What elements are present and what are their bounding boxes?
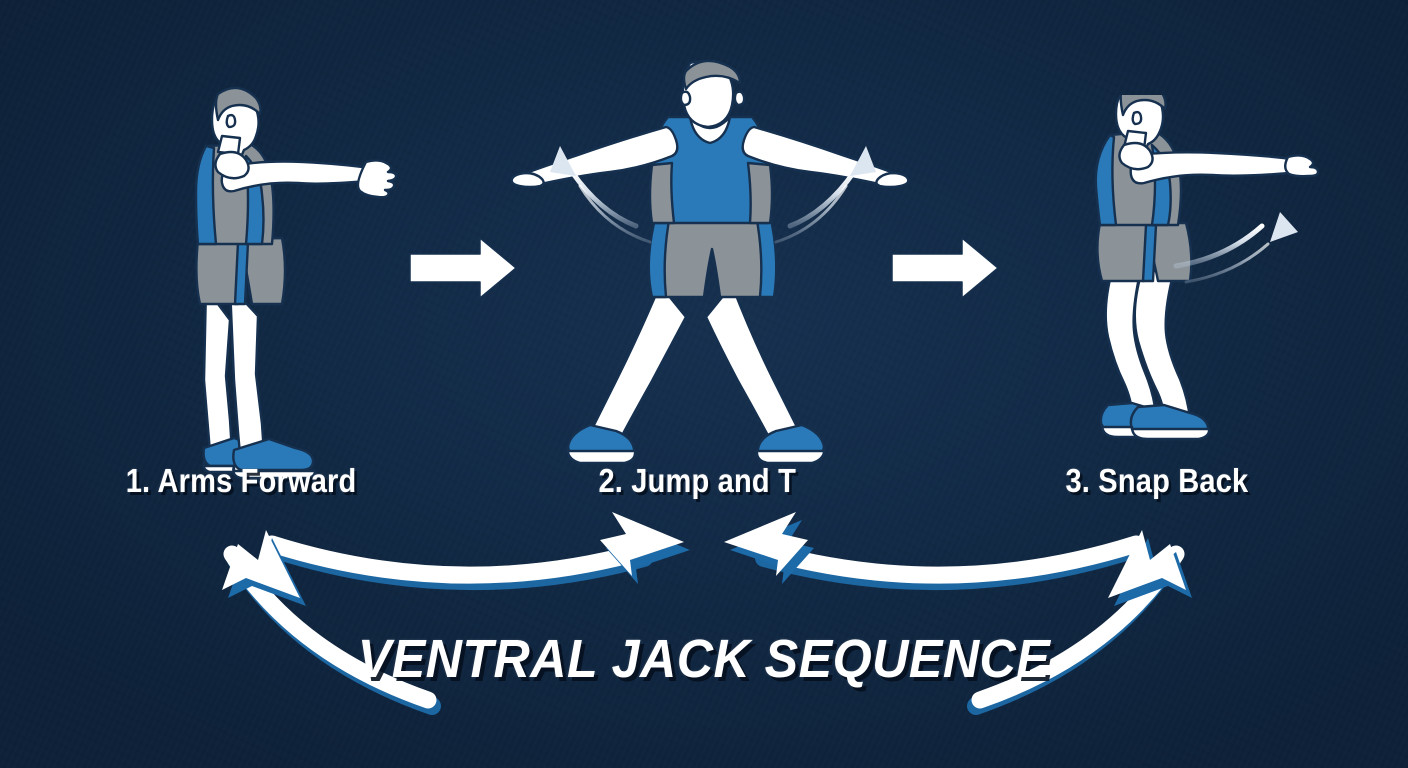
title-layer: VENTRAL JACK SEQUENCE <box>0 0 1408 768</box>
poster-canvas: 1. Arms Forward 2. Jump and T 3. Snap Ba… <box>0 0 1408 768</box>
sequence-title: VENTRAL JACK SEQUENCE <box>49 628 1358 690</box>
